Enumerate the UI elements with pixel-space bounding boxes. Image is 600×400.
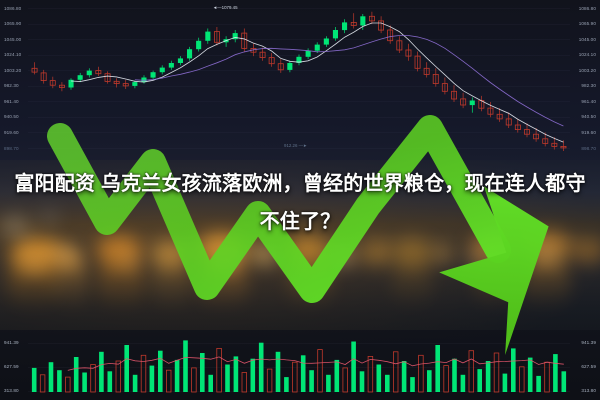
page-title: 富阳配资 乌克兰女孩流落欧洲，曾经的世界粮仓，现在连人都守不住了？ [10, 165, 590, 241]
screenshot-stage: 1086.801065.901045.001024.101003.20982.3… [0, 0, 600, 400]
